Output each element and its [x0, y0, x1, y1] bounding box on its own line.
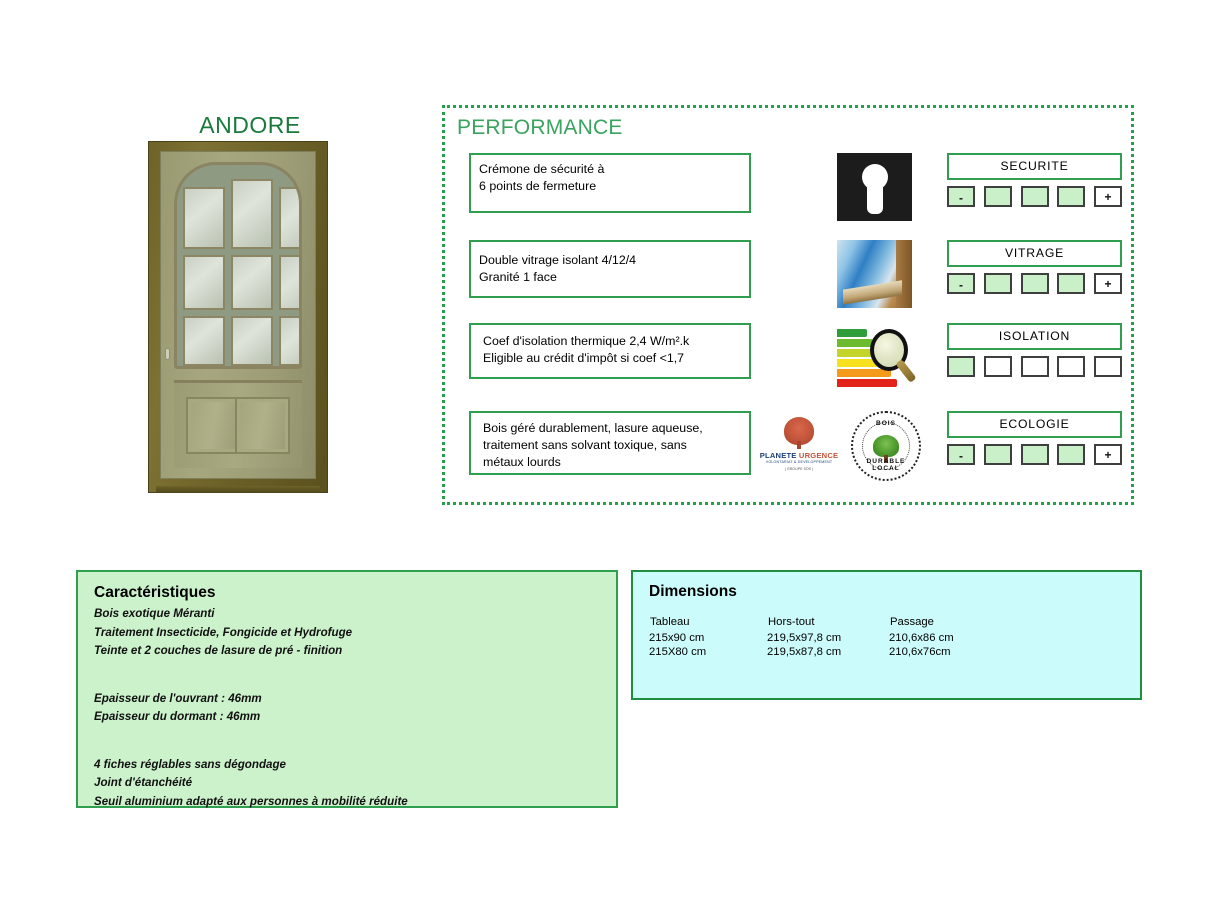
- scale-box-4[interactable]: [1057, 444, 1085, 465]
- rating-block-securite: SECURITE - +: [947, 153, 1122, 207]
- performance-heading: PERFORMANCE: [457, 116, 623, 140]
- carac-line: Teinte et 2 couches de lasure de pré - f…: [94, 642, 600, 661]
- rating-label-vitrage: VITRAGE: [947, 240, 1122, 267]
- scale-box-4[interactable]: [1057, 356, 1085, 377]
- energy-bar-f: [837, 379, 897, 387]
- vitrage-description: Double vitrage isolant 4/12/4 Granité 1 …: [469, 240, 751, 298]
- rating-scale-vitrage[interactable]: - +: [947, 273, 1122, 294]
- scale-box-2[interactable]: [984, 186, 1012, 207]
- table-row: 215X80 cm 219,5x87,8 cm 210,6x76cm: [649, 645, 989, 659]
- rating-label-securite: SECURITE: [947, 153, 1122, 180]
- planete-urgence-logo: PLANETE URGENCE VOLONTARIAT & DEVELOPPEM…: [757, 417, 841, 475]
- column-header-tableau: Tableau: [649, 615, 767, 631]
- dimensions-table: Tableau Hors-tout Passage 215x90 cm 219,…: [649, 615, 989, 659]
- door-glazing-area: [174, 162, 302, 369]
- minus-mark: -: [949, 279, 973, 291]
- glass-pane: [231, 179, 273, 249]
- glass-pane: [279, 255, 302, 310]
- plus-mark: +: [1096, 278, 1120, 290]
- door-panel-left: [186, 397, 241, 454]
- plus-mark: +: [1096, 191, 1120, 203]
- plus-mark: +: [1096, 449, 1120, 461]
- scale-box-4[interactable]: [1057, 186, 1085, 207]
- table-header-row: Tableau Hors-tout Passage: [649, 615, 989, 631]
- glass-pane: [231, 255, 273, 310]
- scale-box-5[interactable]: +: [1094, 186, 1122, 207]
- ecologie-description: Bois géré durablement, lasure aqueuse, t…: [469, 411, 751, 475]
- glass-pane: [183, 255, 225, 310]
- rating-label-ecologie: ECOLOGIE: [947, 411, 1122, 438]
- column-header-passage: Passage: [889, 615, 989, 631]
- scale-box-2[interactable]: [984, 444, 1012, 465]
- scale-box-3[interactable]: [1021, 186, 1049, 207]
- bois-durable-local-stamp: BOIS DURABLE LOCAL: [851, 411, 921, 481]
- keyhole-icon: [837, 153, 912, 221]
- scale-box-5[interactable]: +: [1094, 273, 1122, 294]
- glass-pane: [183, 187, 225, 249]
- rating-label-isolation: ISOLATION: [947, 323, 1122, 350]
- rating-scale-ecologie[interactable]: - +: [947, 444, 1122, 465]
- page-title: ANDORE: [150, 112, 350, 139]
- scale-box-1[interactable]: [947, 356, 975, 377]
- spacer: [94, 727, 600, 756]
- glazing-frame: [896, 240, 913, 308]
- glass-pane: [279, 187, 302, 249]
- scale-box-1[interactable]: -: [947, 444, 975, 465]
- cell-passage: 210,6x86 cm: [889, 631, 989, 645]
- carac-line: Traitement Insecticide, Fongicide et Hyd…: [94, 624, 600, 643]
- carac-line: Bois exotique Méranti: [94, 605, 600, 624]
- stamp-bottom-text: DURABLE LOCAL: [853, 458, 919, 472]
- minus-mark: -: [949, 450, 973, 462]
- stamp-top-text: BOIS: [853, 420, 919, 427]
- rating-scale-securite[interactable]: - +: [947, 186, 1122, 207]
- cell-hors-tout: 219,5x87,8 cm: [767, 645, 889, 659]
- door-product-image: [148, 141, 328, 493]
- caracteristiques-panel: Caractéristiques Bois exotique Méranti T…: [76, 570, 618, 808]
- carac-line: Epaisseur de l'ouvrant : 46mm: [94, 690, 600, 709]
- door-sill: [156, 486, 320, 493]
- door-lower-section: [174, 380, 302, 468]
- scale-box-3[interactable]: [1021, 444, 1049, 465]
- securite-description: Crémone de sécurité à 6 points de fermet…: [469, 153, 751, 213]
- carac-line: Joint d'étanchéité: [94, 774, 600, 793]
- glass-pane: [279, 316, 302, 366]
- scale-box-1[interactable]: -: [947, 273, 975, 294]
- glass-pane: [183, 316, 225, 366]
- door-handle: [165, 348, 170, 360]
- keyhole-stem: [867, 184, 883, 214]
- rating-block-isolation: ISOLATION: [947, 323, 1122, 377]
- scale-box-5[interactable]: [1094, 356, 1122, 377]
- carac-line: Epaisseur du dormant : 46mm: [94, 708, 600, 727]
- scale-box-3[interactable]: [1021, 273, 1049, 294]
- isolation-description: Coef d'isolation thermique 2,4 W/m².k El…: [469, 323, 751, 379]
- table-row: 215x90 cm 219,5x97,8 cm 210,6x86 cm: [649, 631, 989, 645]
- planete-urgence-subtitle: VOLONTARIAT & DEVELOPPEMENT: [757, 460, 841, 465]
- carac-line: 4 fiches réglables sans dégondage: [94, 756, 600, 775]
- minus-mark: -: [949, 192, 973, 204]
- eco-logos-group: PLANETE URGENCE VOLONTARIAT & DEVELOPPEM…: [751, 411, 926, 481]
- rating-block-ecologie: ECOLOGIE - +: [947, 411, 1122, 465]
- planete-tree-icon: [784, 417, 814, 445]
- cell-passage: 210,6x76cm: [889, 645, 989, 659]
- energy-bar-b: [837, 339, 873, 347]
- planete-urgence-name: PLANETE URGENCE: [757, 451, 841, 460]
- energy-bar-a: [837, 329, 867, 337]
- glass-pane: [231, 316, 273, 366]
- planete-urgence-group: ( GROUPE SOS ): [757, 467, 841, 471]
- door-panel-right: [235, 397, 290, 454]
- dimensions-panel: Dimensions Tableau Hors-tout Passage 215…: [631, 570, 1142, 700]
- scale-box-4[interactable]: [1057, 273, 1085, 294]
- spacer: [94, 661, 600, 690]
- column-header-hors-tout: Hors-tout: [767, 615, 889, 631]
- cell-hors-tout: 219,5x97,8 cm: [767, 631, 889, 645]
- glazing-icon: [837, 240, 912, 308]
- performance-panel: PERFORMANCE Crémone de sécurité à 6 poin…: [442, 105, 1134, 505]
- caracteristiques-title: Caractéristiques: [94, 584, 600, 602]
- stamp-tree-icon: [873, 435, 899, 457]
- rating-block-vitrage: VITRAGE - +: [947, 240, 1122, 294]
- scale-box-1[interactable]: -: [947, 186, 975, 207]
- dimensions-title: Dimensions: [649, 583, 1124, 601]
- scale-box-2[interactable]: [984, 356, 1012, 377]
- scale-box-2[interactable]: [984, 273, 1012, 294]
- scale-box-5[interactable]: +: [1094, 444, 1122, 465]
- cell-tableau: 215X80 cm: [649, 645, 767, 659]
- door-leaf: [160, 151, 316, 479]
- energy-label-icon: [837, 323, 912, 391]
- cell-tableau: 215x90 cm: [649, 631, 767, 645]
- glazing-sash: [843, 280, 902, 304]
- scale-box-3[interactable]: [1021, 356, 1049, 377]
- rating-scale-isolation[interactable]: [947, 356, 1122, 377]
- magnifier-handle: [895, 359, 916, 383]
- carac-line: Seuil aluminium adapté aux personnes à m…: [94, 793, 600, 812]
